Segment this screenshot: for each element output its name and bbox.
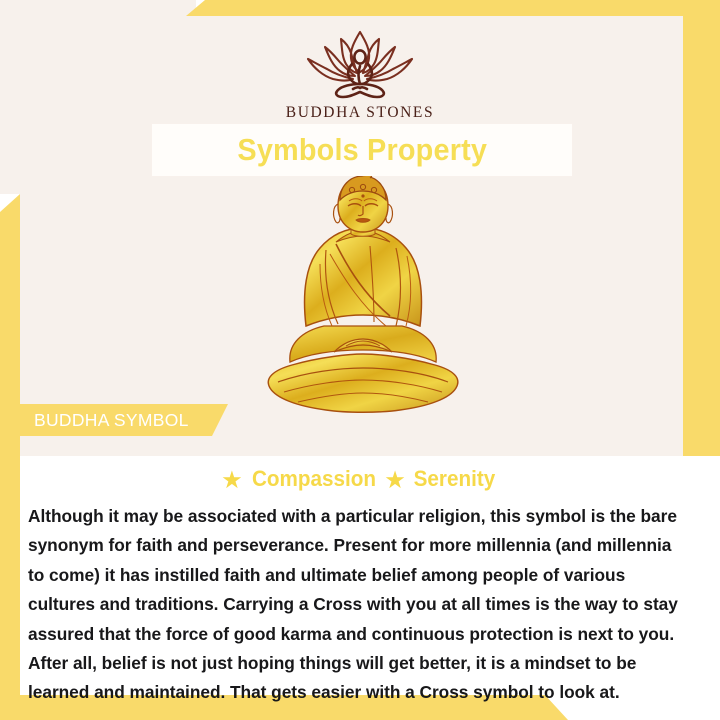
brand-name: BUDDHA STONES xyxy=(0,104,720,122)
page-title: Symbols Property xyxy=(237,132,487,168)
ribbon-label: BUDDHA SYMBOL xyxy=(34,410,189,431)
decor-band-top xyxy=(186,0,720,16)
attribute-serenity: Serenity xyxy=(413,466,495,492)
hero-ribbon: BUDDHA SYMBOL xyxy=(0,404,228,436)
hero-image xyxy=(250,176,475,418)
brand-logo: BUDDHA STONES xyxy=(0,26,720,122)
poster-root: BUDDHA STONES Symbols Property xyxy=(0,0,720,720)
attributes-heading: ★ Compassion ★ Serenity xyxy=(0,466,720,492)
decor-band-left xyxy=(0,194,20,720)
lotus-meditation-icon xyxy=(297,26,423,100)
golden-seated-buddha-illustration xyxy=(250,176,475,418)
star-icon: ★ xyxy=(386,469,405,492)
star-icon: ★ xyxy=(223,469,242,492)
title-banner: Symbols Property xyxy=(152,124,572,176)
cream-panel-top-strip xyxy=(0,0,196,16)
description-paragraph: Although it may be associated with a par… xyxy=(28,502,690,708)
attribute-compassion: Compassion xyxy=(251,466,375,492)
